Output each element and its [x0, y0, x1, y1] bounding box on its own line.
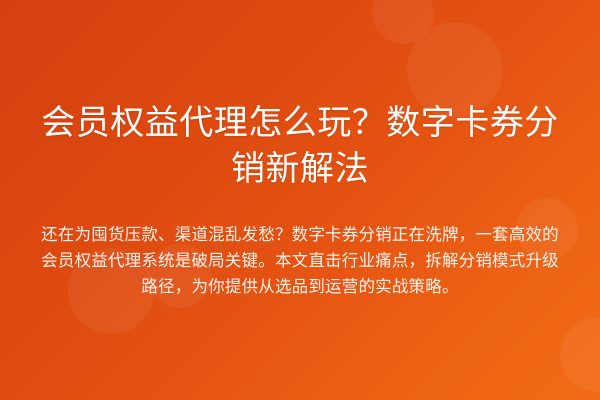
banner-subheadline: 还在为囤货压款、渠道混乱发愁？数字卡券分销正在洗牌，一套高效的会员权益代理系统是…	[40, 222, 560, 300]
banner-content: 会员权益代理怎么玩？数字卡券分销新解法 还在为囤货压款、渠道混乱发愁？数字卡券分…	[0, 0, 600, 400]
article-cover-banner: 会员权益代理怎么玩？数字卡券分销新解法 还在为囤货压款、渠道混乱发愁？数字卡券分…	[0, 0, 600, 400]
banner-headline: 会员权益代理怎么玩？数字卡券分销新解法	[34, 100, 566, 192]
